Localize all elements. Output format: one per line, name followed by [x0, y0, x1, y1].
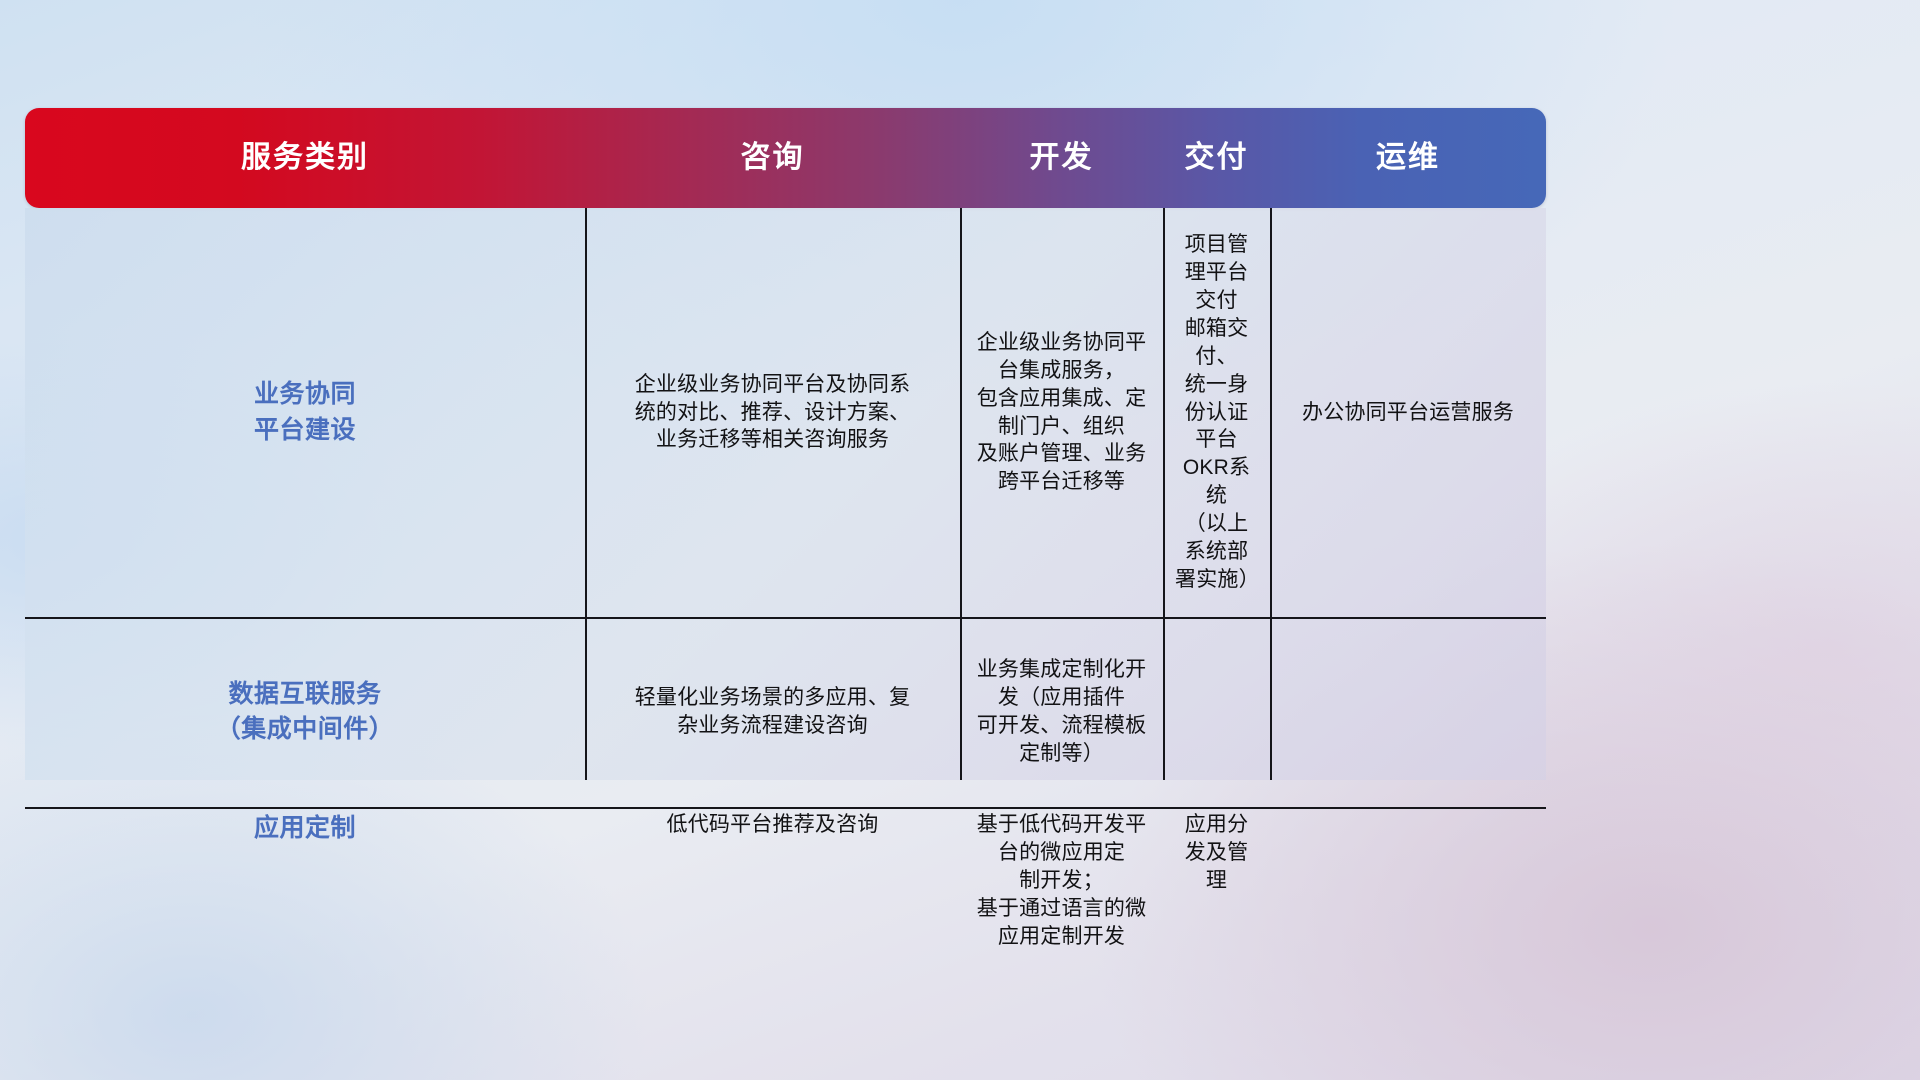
table-body: 业务协同 平台建设 企业级业务协同平台及协同系 统的对比、推荐、设计方案、 业务… — [25, 208, 1546, 780]
table-row: 数据互联服务 （集成中间件） — [25, 617, 585, 807]
cell-consulting-1: 企业级业务协同平台及协同系 统的对比、推荐、设计方案、 业务迁移等相关咨询服务 — [635, 371, 911, 455]
table-row: 业务集成定制化开发（应用插件 可开发、流程模板定制等） — [960, 617, 1163, 807]
cell-development-1: 企业级业务协同平台集成服务， 包含应用集成、定制门户、组织 及账户管理、业务跨平… — [972, 329, 1151, 497]
cell-consulting-2: 轻量化业务场景的多应用、复 杂业务流程建设咨询 — [635, 684, 911, 740]
table-header-bar: 服务类别 咨询 开发 交付 运维 — [25, 108, 1546, 208]
table-row: 企业级业务协同平台集成服务， 包含应用集成、定制门户、组织 及账户管理、业务跨平… — [960, 208, 1163, 617]
table-row — [1270, 617, 1546, 807]
table-row — [1270, 807, 1546, 815]
cell-development-2: 业务集成定制化开发（应用插件 可开发、流程模板定制等） — [972, 656, 1151, 768]
header-cell-operations: 运维 — [1270, 108, 1546, 208]
table-row: 办公协同平台运营服务 — [1270, 208, 1546, 617]
table-row: 企业级业务协同平台及协同系 统的对比、推荐、设计方案、 业务迁移等相关咨询服务 — [585, 208, 960, 617]
header-cell-consulting: 咨询 — [585, 108, 960, 208]
table-row — [1163, 617, 1270, 807]
cell-category-2: 数据互联服务 （集成中间件） — [216, 677, 395, 748]
cell-operations-1: 办公协同平台运营服务 — [1302, 399, 1514, 427]
table-row: 应用定制 — [25, 807, 585, 851]
cell-development-3: 基于低代码开发平台的微应用定 制开发； 基于通过语言的微应用定制开发 — [972, 811, 1151, 951]
table-row: 基于低代码开发平台的微应用定 制开发； 基于通过语言的微应用定制开发 — [960, 807, 1163, 955]
cell-category-3: 应用定制 — [254, 811, 356, 847]
cell-consulting-3: 低代码平台推荐及咨询 — [667, 811, 879, 839]
table-row: 业务协同 平台建设 — [25, 208, 585, 617]
header-cell-category: 服务类别 — [25, 108, 585, 208]
header-cell-development: 开发 — [960, 108, 1163, 208]
table-row: 低代码平台推荐及咨询 — [585, 807, 960, 843]
header-cell-delivery: 交付 — [1163, 108, 1270, 208]
cell-delivery-1: 项目管理平台交付 邮箱交付、 统一身份认证平台 OKR系统 （以上系统部署实施） — [1175, 231, 1258, 594]
table-row: 项目管理平台交付 邮箱交付、 统一身份认证平台 OKR系统 （以上系统部署实施） — [1163, 208, 1270, 617]
service-matrix-table: 服务类别 咨询 开发 交付 运维 业务协同 平台建设 企业级业务协同平台及协同系… — [25, 108, 1546, 780]
table-row: 轻量化业务场景的多应用、复 杂业务流程建设咨询 — [585, 617, 960, 807]
cell-delivery-3: 应用分发及管理 — [1175, 811, 1258, 895]
header-cell-row: 服务类别 咨询 开发 交付 运维 — [25, 108, 1546, 208]
table-row: 应用分发及管理 — [1163, 807, 1270, 899]
cell-category-1: 业务协同 平台建设 — [254, 377, 356, 448]
